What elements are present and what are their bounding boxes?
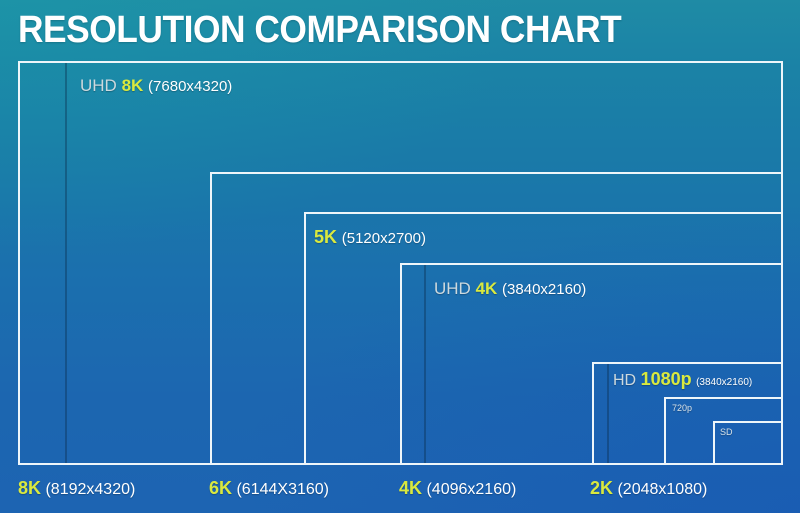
axis-label-8k-resolution: (8192x4320) (45, 481, 135, 498)
label-5k-key: 5K (314, 227, 337, 247)
divider-4k-uhd-dci (424, 265, 426, 463)
label-5k: 5K (5120x2700) (314, 227, 426, 248)
axis-label-6k-key: 6K (209, 478, 232, 498)
page-title: RESOLUTION COMPARISON CHART (18, 8, 621, 52)
axis-label-6k-resolution: (6144X3160) (236, 481, 329, 498)
axis-label-2k: 2K (2048x1080) (590, 478, 707, 499)
label-uhd-8k-key: 8K (122, 76, 144, 95)
divider-8k-uhd-dci (65, 63, 67, 463)
label-uhd-8k-resolution: (7680x4320) (148, 78, 232, 95)
axis-label-4k-resolution: (4096x2160) (426, 481, 516, 498)
chart-canvas: RESOLUTION COMPARISON CHART UHD 8K (7680… (0, 0, 800, 513)
label-5k-resolution: (5120x2700) (342, 230, 426, 247)
axis-label-4k-key: 4K (399, 478, 422, 498)
label-720p: 720p (672, 403, 692, 413)
axis-label-8k-key: 8K (18, 478, 41, 498)
axis-label-8k: 8K (8192x4320) (18, 478, 135, 499)
label-uhd-8k-prefix: UHD (80, 76, 117, 95)
label-uhd-4k: UHD 4K (3840x2160) (434, 279, 586, 299)
label-hd-1080p-resolution: (3840x2160) (696, 377, 752, 388)
axis-label-4k: 4K (4096x2160) (399, 478, 516, 499)
label-sd: SD (720, 427, 733, 437)
label-uhd-4k-resolution: (3840x2160) (502, 281, 586, 298)
label-hd-1080p-prefix: HD (613, 372, 636, 389)
divider-2k-hd-dci (607, 364, 609, 463)
label-uhd-4k-key: 4K (476, 279, 498, 298)
axis-label-6k: 6K (6144X3160) (209, 478, 329, 499)
label-hd-1080p: HD 1080p (3840x2160) (613, 369, 752, 390)
axis-label-2k-resolution: (2048x1080) (617, 481, 707, 498)
label-hd-1080p-key: 1080p (641, 369, 692, 389)
label-uhd-8k: UHD 8K (7680x4320) (80, 76, 232, 96)
label-uhd-4k-prefix: UHD (434, 279, 471, 298)
axis-label-2k-key: 2K (590, 478, 613, 498)
